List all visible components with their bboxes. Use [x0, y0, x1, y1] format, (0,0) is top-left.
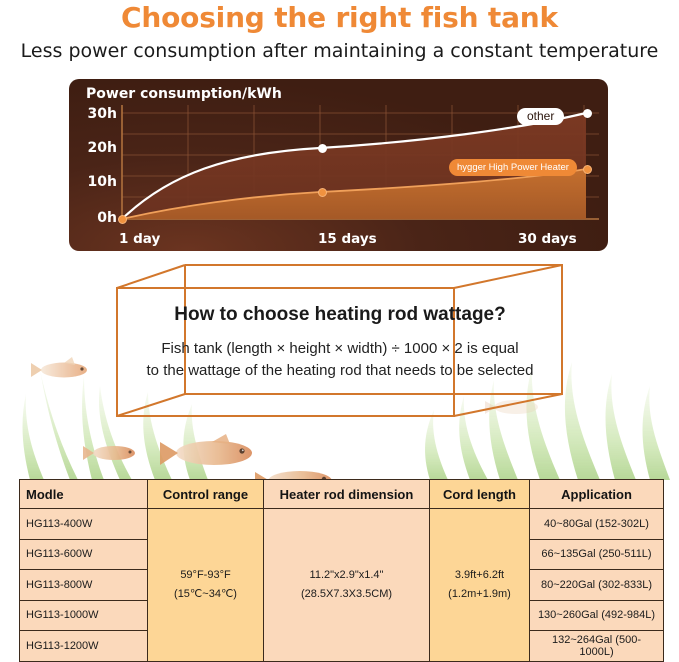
- table-header-heater-rod-dimension: Heater rod dimension: [264, 480, 430, 509]
- x-tick-1-day: 1 day: [119, 231, 160, 247]
- table-header-row: Modle Control range Heater rod dimension…: [20, 480, 664, 509]
- heater-dimension-line-1: 11.2"x2.9"x1.4": [270, 566, 423, 585]
- cell-cord-length: 3.9ft+6.2ft (1.2m+1.9m): [430, 509, 530, 662]
- cell-application-3: 80~220Gal (302-833L): [530, 570, 664, 601]
- table-header-control-range: Control range: [148, 480, 264, 509]
- cell-model-1: HG113-400W: [20, 509, 148, 540]
- table-row: HG113-400W 59°F-93°F (15℃~34℃) 11.2"x2.9…: [20, 509, 664, 540]
- table-header-modle: Modle: [20, 480, 148, 509]
- chart-y-axis-labels: 30h 20h 10h 0h: [71, 79, 117, 251]
- cell-application-4: 130~260Gal (492-984L): [530, 600, 664, 631]
- legend-label-hygger: hygger High Power Heater: [449, 159, 577, 176]
- cell-model-4: HG113-1000W: [20, 600, 148, 631]
- tank-edge-top-right: [454, 265, 562, 288]
- table-header-cord-length: Cord length: [430, 480, 530, 509]
- cell-control-range: 59°F-93°F (15℃~34℃): [148, 509, 264, 662]
- formula-text-block: How to choose heating rod wattage? Fish …: [90, 302, 590, 382]
- fish-center-large: [160, 434, 252, 465]
- fish-upper-left: [31, 357, 87, 378]
- formula-line-2: to the wattage of the heating rod that n…: [90, 360, 590, 382]
- other-datapoint-15-days: [318, 144, 327, 153]
- cell-model-2: HG113-600W: [20, 539, 148, 570]
- cell-application-1: 40~80Gal (152-302L): [530, 509, 664, 540]
- legend-label-other: other: [517, 108, 564, 125]
- control-range-line-2: (15℃~34℃): [154, 585, 257, 604]
- fish-tank-formula-section: How to choose heating rod wattage? Fish …: [0, 252, 679, 480]
- y-tick-0h: 0h: [73, 211, 117, 225]
- hygger-datapoint-15-days: [318, 188, 327, 197]
- cord-length-line-1: 3.9ft+6.2ft: [436, 566, 523, 585]
- x-tick-15-days: 15 days: [318, 231, 377, 247]
- formula-title: How to choose heating rod wattage?: [90, 302, 590, 328]
- y-tick-20h: 20h: [73, 141, 117, 155]
- y-tick-30h: 30h: [73, 107, 117, 121]
- tank-edge-top-left: [117, 265, 185, 288]
- cell-heater-rod-dimension: 11.2"x2.9"x1.4" (28.5X7.3X3.5CM): [264, 509, 430, 662]
- page-subtitle: Less power consumption after maintaining…: [0, 37, 679, 65]
- cell-application-2: 66~135Gal (250-511L): [530, 539, 664, 570]
- hygger-datapoint-30-days: [583, 165, 592, 174]
- series-datapoint-1-day: [118, 215, 127, 224]
- power-consumption-chart: Power consumption/kWh 30h 20h 10h 0h 1 d…: [69, 79, 608, 251]
- page-title: Choosing the right fish tank: [0, 0, 679, 36]
- tank-edge-bottom-left: [117, 394, 185, 416]
- y-tick-10h: 10h: [73, 175, 117, 189]
- heater-dimension-line-2: (28.5X7.3X3.5CM): [270, 585, 423, 604]
- cell-application-5: 132~264Gal (500-1000L): [530, 631, 664, 662]
- cell-model-3: HG113-800W: [20, 570, 148, 601]
- table-header-application: Application: [530, 480, 664, 509]
- cell-model-5: HG113-1200W: [20, 631, 148, 662]
- x-tick-30-days: 30 days: [518, 231, 577, 247]
- specifications-table: Modle Control range Heater rod dimension…: [19, 479, 664, 662]
- cord-length-line-2: (1.2m+1.9m): [436, 585, 523, 604]
- control-range-line-1: 59°F-93°F: [154, 566, 257, 585]
- formula-line-1: Fish tank (length × height × width) ÷ 10…: [90, 338, 590, 360]
- other-datapoint-30-days: [583, 109, 592, 118]
